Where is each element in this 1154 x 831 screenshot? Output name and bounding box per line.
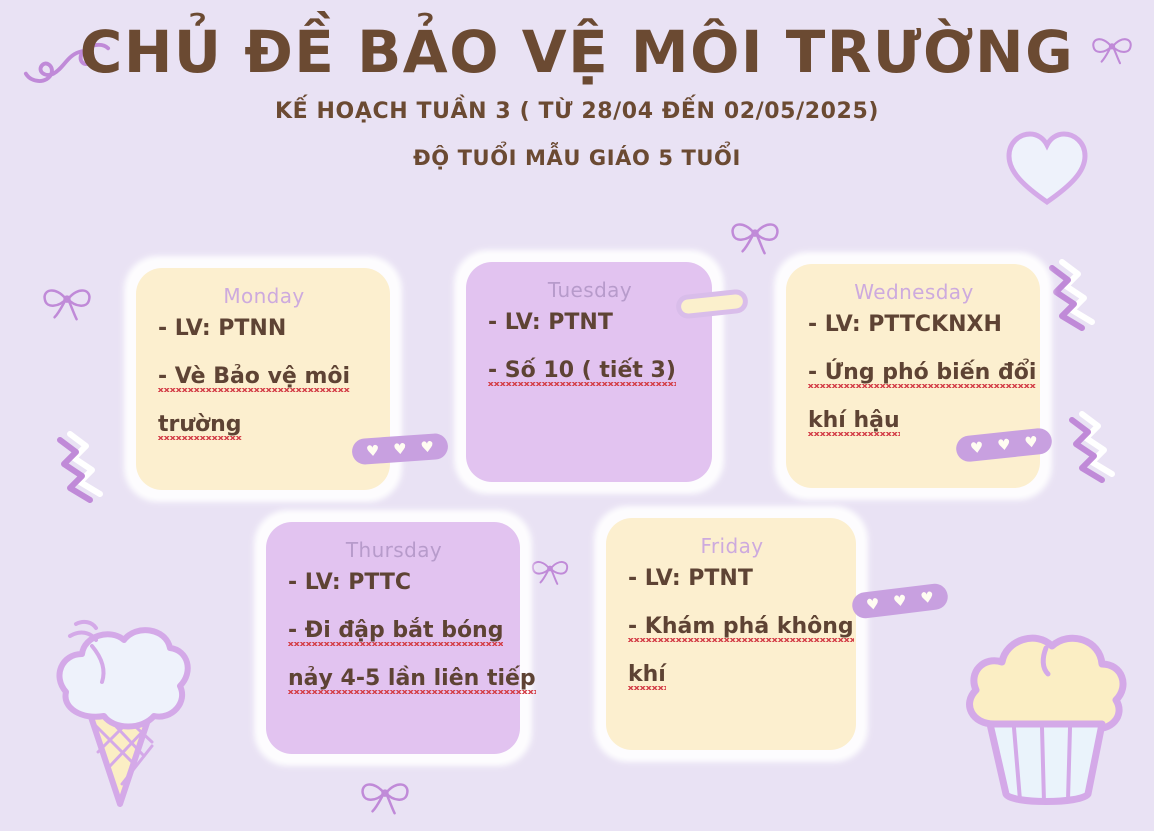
page-subtitle-age: ĐỘ TUỔI MẪU GIÁO 5 TUỔI — [0, 146, 1154, 170]
bow-doodle-bottom-center — [356, 772, 414, 818]
card-line: - LV: PTTCKNXH — [808, 314, 1020, 336]
plain-text: - LV: PTTCKNXH — [808, 312, 1002, 337]
day-label: Monday — [158, 284, 370, 308]
card-line: - Vè Bảo vệ môi — [158, 366, 370, 388]
misspelled-text: khí hậu — [808, 408, 900, 436]
misspelled-text: - Vè Bảo vệ môi — [158, 364, 350, 392]
card-line: - Số 10 ( tiết 3) — [488, 360, 692, 382]
heart-icon: ♥ — [920, 589, 935, 606]
card-body: Tuesday- LV: PTNT- Số 10 ( tiết 3) — [466, 262, 712, 482]
misspelled-text: nảy 4-5 lần liên tiếp — [288, 666, 536, 694]
heart-icon: ♥ — [420, 439, 434, 455]
day-card-monday[interactable]: Monday- LV: PTNN- Vè Bảo vệ môitrường — [136, 268, 390, 490]
ice-cream-cone — [36, 606, 206, 821]
card-line: - Khám phá không — [628, 616, 836, 638]
card-line: khí — [628, 664, 836, 686]
card-body: Monday- LV: PTNN- Vè Bảo vệ môitrường — [136, 268, 390, 490]
poster-header: CHỦ ĐỀ BẢO VỆ MÔI TRƯỜNG KẾ HOẠCH TUẦN 3… — [0, 22, 1154, 170]
misspelled-text: - Đi đập bắt bóng — [288, 618, 503, 646]
card-line: nảy 4-5 lần liên tiếp — [288, 668, 500, 690]
misspelled-text: khí — [628, 662, 666, 690]
page-subtitle: KẾ HOẠCH TUẦN 3 ( TỪ 28/04 ĐẾN 02/05/202… — [0, 99, 1154, 124]
misspelled-text: - Ứng phó biến đổi — [808, 360, 1036, 388]
bow-doodle-thursday-right — [528, 552, 572, 588]
day-label: Thursday — [288, 538, 500, 562]
card-body: Wednesday- LV: PTTCKNXH- Ứng phó biến đổ… — [786, 264, 1040, 488]
card-line: - LV: PTNN — [158, 318, 370, 340]
cupcake — [950, 612, 1145, 817]
card-line: khí hậu — [808, 410, 1020, 432]
day-label: Tuesday — [488, 278, 692, 302]
plain-text: - LV: PTNT — [628, 566, 753, 591]
day-card-thursday[interactable]: Thursday- LV: PTTC- Đi đập bắt bóngnảy 4… — [266, 522, 520, 754]
bow-doodle-center-top — [726, 212, 784, 258]
card-line: - LV: PTTC — [288, 572, 500, 594]
card-line: - Ứng phó biến đổi — [808, 362, 1020, 384]
card-line: - Đi đập bắt bóng — [288, 620, 500, 642]
zigzag-doodle-right-top — [1040, 258, 1132, 336]
plain-text: - LV: PTTC — [288, 570, 411, 595]
misspelled-text: - Số 10 ( tiết 3) — [488, 358, 676, 386]
card-body: Thursday- LV: PTTC- Đi đập bắt bóngnảy 4… — [266, 522, 520, 754]
day-card-tuesday[interactable]: Tuesday- LV: PTNT- Số 10 ( tiết 3) — [466, 262, 712, 482]
bow-doodle-left-upper — [38, 278, 96, 324]
day-label: Friday — [628, 534, 836, 558]
heart-icon: ♥ — [892, 593, 907, 610]
page-title: CHỦ ĐỀ BẢO VỆ MÔI TRƯỜNG — [0, 22, 1154, 83]
card-line: - LV: PTNT — [628, 568, 836, 590]
card-body: Friday- LV: PTNT- Khám phá khôngkhí — [606, 518, 856, 750]
poster-canvas: CHỦ ĐỀ BẢO VỆ MÔI TRƯỜNG KẾ HOẠCH TUẦN 3… — [0, 0, 1154, 831]
day-card-wednesday[interactable]: Wednesday- LV: PTTCKNXH- Ứng phó biến đổ… — [786, 264, 1040, 488]
day-card-friday[interactable]: Friday- LV: PTNT- Khám phá khôngkhí — [606, 518, 856, 750]
card-line: - LV: PTNT — [488, 312, 692, 334]
zigzag-doodle-right-mid — [1060, 410, 1152, 488]
plain-text: - LV: PTNN — [158, 316, 286, 341]
plain-text: - LV: PTNT — [488, 310, 613, 335]
misspelled-text: - Khám phá không — [628, 614, 854, 642]
misspelled-text: trường — [158, 412, 242, 440]
card-line: trường — [158, 414, 370, 436]
day-label: Wednesday — [808, 280, 1020, 304]
